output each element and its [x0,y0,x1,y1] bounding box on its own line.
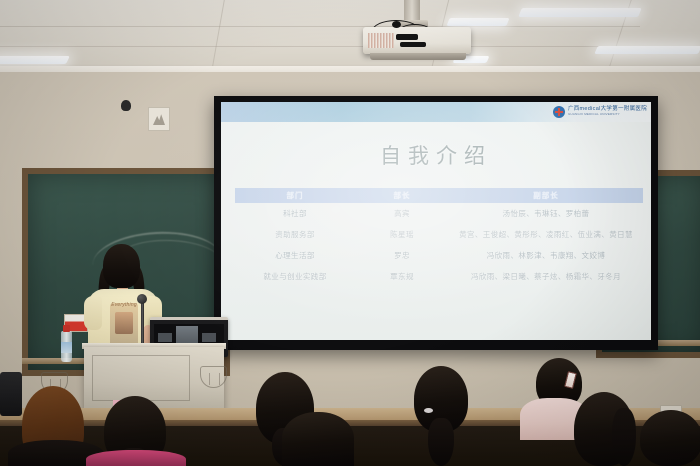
audience-ponytail [428,418,454,466]
lectern-front-panel [92,355,190,401]
ceiling-panel-line [0,26,640,27]
projection-screen: 广西medical大学第一附属医院 GUANGXI MEDICAL UNIVER… [221,102,651,340]
shirt-print-top-text: Everything [110,302,138,308]
table-header-head: 部长 [355,188,449,203]
laptop-screen-content [158,333,172,342]
audience-member-8 [640,410,700,466]
projector-underside [370,53,466,60]
table-row: 就业与创业实践部 覃东规 冯欣雨、梁日曦、蔡子炫、杨霜华、牙冬月 [235,266,643,287]
table-header-row: 部门 部长 副部长 [235,188,643,203]
cell-head: 陈星瑶 [355,224,449,245]
laptop-screen-content [202,333,216,342]
projector-connector [396,34,418,40]
wall-camera-icon [121,100,131,111]
table-header-vice: 副部长 [449,188,643,203]
audience-member-4 [282,412,354,466]
logo-text-block: 广西medical大学第一附属医院 GUANGXI MEDICAL UNIVER… [568,107,647,116]
slide-title: 自我介绍 [221,140,651,170]
table-row: 科社部 高宾 汤怡辰、韦琳钰、罗柏蕾 [235,203,643,224]
cell-head: 覃东规 [355,266,449,287]
presenter-shirt-graphic [110,303,138,347]
ceiling-tube-light [446,18,509,26]
ceiling-tube-light [0,56,70,64]
cell-dept: 科社部 [235,203,355,224]
cell-vice: 冯欣雨、林影津、韦康翔、文姣博 [449,245,643,266]
presenter-sleeve-left [84,296,102,330]
logo-en-text: GUANGXI MEDICAL UNIVERSITY [568,113,647,116]
bottle-cap [63,325,70,332]
projector-connector [392,21,401,28]
cell-dept: 就业与创业实践部 [235,266,355,287]
cell-vice: 汤怡辰、韦琳钰、罗柏蕾 [449,203,643,224]
table-row: 心理生活部 罗忠 冯欣雨、林影津、韦康翔、文姣博 [235,245,643,266]
chair-back [0,372,22,416]
projector-mount-pole [404,0,420,22]
cell-dept: 资助服务部 [235,224,355,245]
microphone-icon [137,294,147,304]
wall-sign [148,107,170,131]
slide-header-band: 广西medical大学第一附属医院 GUANGXI MEDICAL UNIVER… [221,102,651,122]
cell-head: 罗忠 [355,245,449,266]
ceiling-panel-line [0,46,660,47]
audience-shoulders [86,450,186,466]
slide-table: 部门 部长 副部长 科社部 高宾 汤怡辰、韦琳钰、罗柏蕾 资助服务部 陈星瑶 黄… [235,188,643,287]
table-row: 资助服务部 陈星瑶 黄宫、王俊超、黄彤彤、凌雨红、伍业满、黄日慧 [235,224,643,245]
classroom-photo: 广西medical大学第一附属医院 GUANGXI MEDICAL UNIVER… [0,0,700,466]
cell-head: 高宾 [355,203,449,224]
cell-dept: 心理生活部 [235,245,355,266]
ceiling-tube-light [518,8,642,17]
projector-connector [400,42,426,47]
institution-logo: 广西medical大学第一附属医院 GUANGXI MEDICAL UNIVER… [553,104,647,119]
projector-vent [368,33,394,48]
table-header-dept: 部门 [235,188,355,203]
bottle-label [61,342,72,353]
presenter-hair [103,244,140,288]
cell-vice: 冯欣雨、梁日曦、蔡子炫、杨霜华、牙冬月 [449,266,643,287]
audience-ponytail [612,408,636,466]
hair-tie [424,408,433,413]
ceiling-tube-light [594,46,700,54]
cell-vice: 黄宫、王俊超、黄彤彤、凌雨红、伍业满、黄日慧 [449,224,643,245]
hospital-cross-logo-icon [553,106,565,118]
